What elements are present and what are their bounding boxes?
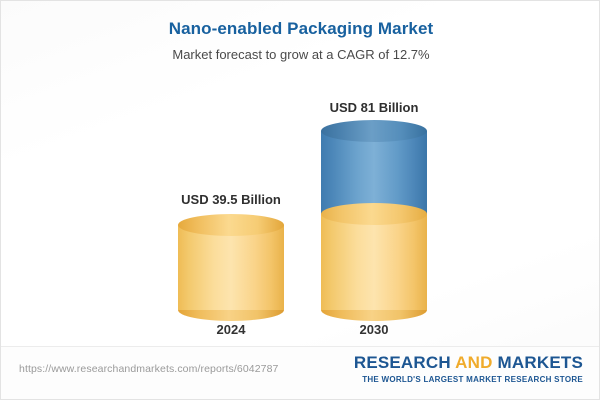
logo-word-and: AND	[455, 353, 492, 372]
report-url[interactable]: https://www.researchandmarkets.com/repor…	[19, 363, 278, 375]
infographic-card: Nano-enabled Packaging Market Market for…	[0, 0, 600, 400]
page-title: Nano-enabled Packaging Market	[1, 19, 600, 39]
logo-tagline: THE WORLD'S LARGEST MARKET RESEARCH STOR…	[354, 375, 583, 384]
cylinder-segment-divider-2030	[321, 203, 427, 225]
logo-wordmark: RESEARCH AND MARKETS	[354, 353, 583, 373]
chart-header: Nano-enabled Packaging Market Market for…	[1, 19, 600, 62]
cylinder-2024	[178, 214, 284, 310]
cylinder-2030	[321, 120, 427, 310]
cylinder-body-yellow-2030	[321, 214, 427, 310]
research-and-markets-logo[interactable]: RESEARCH AND MARKETS THE WORLD'S LARGEST…	[354, 353, 583, 384]
logo-word-markets: MARKETS	[498, 353, 583, 372]
bar-value-label-2030: USD 81 Billion	[279, 100, 469, 115]
chart-subtitle: Market forecast to grow at a CAGR of 12.…	[1, 47, 600, 62]
cylinder-top-cap-2024	[178, 214, 284, 236]
bar-value-label-2024: USD 39.5 Billion	[136, 192, 326, 207]
bar-chart-plot: USD 39.5 Billion 2024 USD 81 Billion 203…	[1, 87, 600, 337]
cylinder-body-blue-2030	[321, 131, 427, 214]
footer: https://www.researchandmarkets.com/repor…	[1, 346, 599, 399]
cylinder-body-yellow-2024	[178, 225, 284, 310]
cylinder-top-cap-2030	[321, 120, 427, 142]
bar-category-label-2030: 2030	[279, 322, 469, 337]
logo-word-research: RESEARCH	[354, 353, 451, 372]
